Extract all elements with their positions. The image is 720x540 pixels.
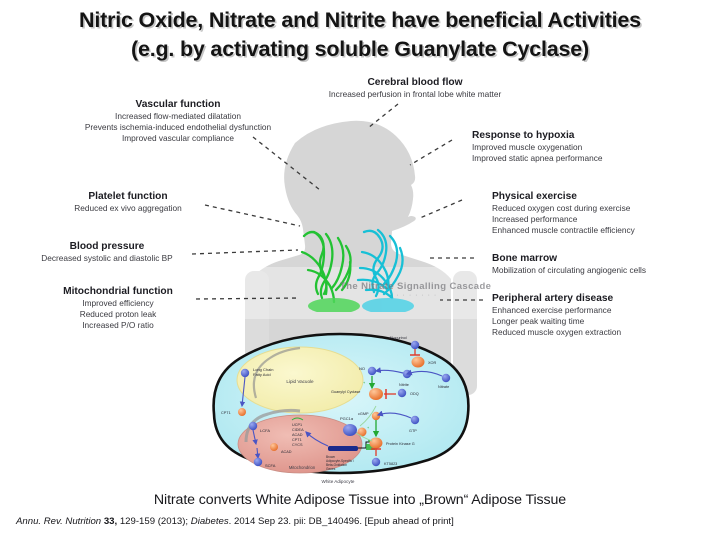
annotation-heading: Peripheral artery disease — [492, 292, 717, 305]
citation: Annu. Rev. Nutrition 33, 129-159 (2013);… — [16, 516, 716, 527]
no-node — [368, 367, 376, 375]
nitrite-label: Nitrite — [399, 383, 409, 387]
pkg-enzyme — [370, 438, 383, 449]
odq-label: ODQ — [410, 392, 419, 396]
acad-label: ACAD — [281, 450, 292, 454]
watermark-text: The Nitrate Signalling Cascade — [340, 281, 491, 292]
pgc1a-label: PGC1α — [340, 416, 354, 421]
annotation-cerebral-blood-flow: Cerebral blood flow Increased perfusion … — [315, 76, 515, 100]
annotation-line: Reduced ex vivo aggregation — [48, 203, 208, 214]
annotation-heading: Physical exercise — [492, 190, 717, 203]
annotation-physical-exercise: Physical exercise Reduced oxygen cost du… — [492, 190, 717, 236]
xor-enzyme — [412, 357, 425, 368]
annotation-heading: Blood pressure — [22, 240, 192, 253]
title-line-1: Nitric Oxide, Nitrate and Nitrite have b… — [79, 8, 641, 32]
citation-pages: 129-159 (2013); — [120, 516, 188, 527]
annotation-heading: Mitochondrial function — [40, 285, 196, 298]
annotation-mitochondrial-function: Mitochondrial function Improved efficien… — [40, 285, 196, 331]
kt5823-node — [372, 458, 380, 466]
svg-text:CIDEA: CIDEA — [292, 428, 304, 432]
nitrate-label: Nitrate — [438, 385, 449, 389]
citation-journal-1: Annu. Rev. Nutrition — [16, 516, 101, 527]
svg-text:UCP1: UCP1 — [292, 423, 302, 427]
white-adipocyte-label: White Adipocyte — [322, 479, 355, 484]
svg-text:ACAD: ACAD — [292, 433, 303, 437]
page-title: Nitric Oxide, Nitrate and Nitrite have b… — [0, 6, 720, 64]
annotation-response-to-hypoxia: Response to hypoxia Improved muscle oxyg… — [472, 129, 702, 164]
citation-rest: . 2014 Sep 23. pii: DB_140496. [Epub ahe… — [229, 516, 454, 527]
annotation-line: Increased P/O ratio — [40, 320, 196, 331]
annotation-line: Reduced proton leak — [40, 309, 196, 320]
cgmp-node — [372, 412, 380, 420]
annotation-line: Improved muscle oxygenation — [472, 142, 702, 153]
gtp-label: GTP — [409, 429, 417, 433]
annotation-line: Enhanced exercise performance — [492, 305, 717, 316]
lcfa-label-line2: Fatty Acid — [253, 372, 271, 377]
cgmp-label: cGMP — [358, 412, 369, 416]
annotation-platelet-function: Platelet function Reduced ex vivo aggreg… — [48, 190, 208, 214]
annotation-vascular-function: Vascular function Increased flow-mediate… — [48, 98, 308, 144]
mitochondrion-label: Mitochondrion — [289, 465, 316, 470]
annotation-bone-marrow: Bone marrow Mobilization of circulating … — [492, 252, 717, 276]
allopurinol-label: Allopurinol — [389, 336, 407, 340]
pkg-label: Protein Kinase G — [386, 442, 415, 446]
annotation-blood-pressure: Blood pressure Decreased systolic and di… — [22, 240, 192, 264]
annotation-line: Mobilization of circulating angiogenic c… — [492, 265, 717, 276]
title-line-2: (e.g. by activating soluble Guanylate Cy… — [0, 35, 720, 64]
guanylyl-cyclase-label: Guanylyl Cyclase — [331, 390, 360, 394]
adipocyte-diagram: Lipid Vacuole Mitochondrion Long Chain F… — [200, 322, 475, 487]
citation-volume: 33, — [104, 516, 117, 527]
annotation-heading: Response to hypoxia — [472, 129, 702, 142]
nitrate-node — [442, 374, 450, 382]
annotation-line: Reduced muscle oxygen extraction — [492, 327, 717, 338]
annotation-heading: Cerebral blood flow — [315, 76, 515, 89]
annotation-line: Increased performance — [492, 214, 717, 225]
annotation-line: Improved vascular compliance — [48, 133, 308, 144]
annotation-heading: Bone marrow — [492, 252, 717, 265]
cpt1-label: CPT1 — [221, 411, 231, 415]
allopurinol-node — [411, 341, 419, 349]
annotation-line: Prevents ischemia-induced endothelial dy… — [48, 122, 308, 133]
annotation-line: Reduced oxygen cost during exercise — [492, 203, 717, 214]
gtp-node — [411, 416, 419, 424]
kt5823-label: KT5823 — [384, 462, 397, 466]
annotation-heading: Platelet function — [48, 190, 208, 203]
annotation-line: Longer peak waiting time — [492, 316, 717, 327]
annotation-line: Increased flow-mediated dilatation — [48, 111, 308, 122]
odq-node — [398, 389, 406, 397]
lcfa-short-label: LCFA — [260, 428, 270, 433]
citation-journal-2: Diabetes — [191, 516, 229, 527]
watermark-dots: · · · · · · · · — [390, 292, 437, 299]
annotation-line: Increased perfusion in frontal lobe whit… — [315, 89, 515, 100]
xor-label: XOR — [428, 361, 436, 365]
annotation-line: Improved efficiency — [40, 298, 196, 309]
slide-canvas: Nitric Oxide, Nitrate and Nitrite have b… — [0, 0, 720, 540]
annotation-line: Enhanced muscle contractile efficiency — [492, 225, 717, 236]
annotation-line: Decreased systolic and diastolic BP — [22, 253, 192, 264]
gene-promoter — [328, 446, 358, 451]
bottom-caption: Nitrate converts White Adipose Tissue in… — [0, 492, 720, 508]
scfa-label: SCFA — [265, 463, 276, 468]
lipid-vacuole-label: Lipid Vacuole — [286, 379, 314, 384]
annotation-line: Improved static apnea performance — [472, 153, 702, 164]
genes-title-4: Genes — [326, 467, 336, 471]
annotation-heading: Vascular function — [48, 98, 308, 111]
no-label: NO — [359, 366, 365, 371]
svg-text:CPT1: CPT1 — [292, 438, 302, 442]
annotation-peripheral-artery-disease: Peripheral artery disease Enhanced exerc… — [492, 292, 717, 338]
guanylyl-cyclase-enzyme — [369, 388, 383, 400]
svg-text:CYCS: CYCS — [292, 443, 303, 447]
